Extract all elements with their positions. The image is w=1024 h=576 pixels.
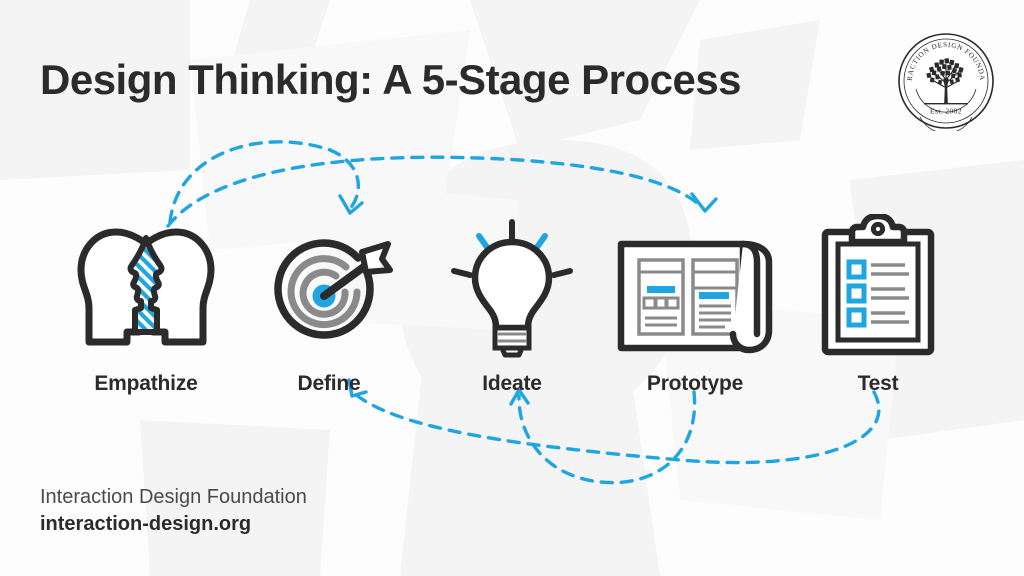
arrow-test-to-define <box>355 392 879 463</box>
footer-url[interactable]: interaction-design.org <box>40 511 307 538</box>
target-arrow-icon <box>262 234 396 358</box>
stage-empathize[interactable]: Empathize <box>60 208 232 396</box>
slide-canvas: Design Thinking: A 5-Stage Process INTER… <box>0 0 1024 576</box>
blueprint-roll-icon <box>615 230 775 358</box>
wireframe-panel-right <box>693 260 737 334</box>
wireframe-panel-left <box>639 260 683 334</box>
logo-established-text: Est. 2002 <box>930 107 962 116</box>
stage-ideate[interactable]: Ideate <box>426 208 598 396</box>
idf-logo-badge[interactable]: INTERACTION DESIGN FOUNDATION <box>896 31 996 131</box>
stage-icon-wrapper <box>615 208 775 358</box>
clipboard-checklist-icon <box>819 214 937 358</box>
arrow-prototype-to-ideate <box>519 392 695 483</box>
stage-icon-wrapper <box>71 208 221 358</box>
stage-label-prototype: Prototype <box>647 372 743 396</box>
stage-icon-wrapper <box>446 208 578 358</box>
stage-label-empathize: Empathize <box>94 372 197 396</box>
stage-label-ideate: Ideate <box>482 372 542 396</box>
stages-row: Empathize Defi <box>60 196 964 396</box>
footer-organization: Interaction Design Foundation <box>40 484 307 511</box>
stage-prototype[interactable]: Prototype <box>609 208 781 396</box>
page-title: Design Thinking: A 5-Stage Process <box>40 56 741 104</box>
stage-icon-wrapper <box>819 208 937 358</box>
two-heads-overlap-icon <box>71 224 221 358</box>
stage-label-test: Test <box>858 372 899 396</box>
stage-test[interactable]: Test <box>792 208 964 396</box>
stage-define[interactable]: Define <box>243 208 415 396</box>
footer: Interaction Design Foundation interactio… <box>40 484 307 538</box>
stage-label-define: Define <box>298 372 361 396</box>
lightbulb-icon <box>446 218 578 358</box>
stage-icon-wrapper <box>262 208 396 358</box>
